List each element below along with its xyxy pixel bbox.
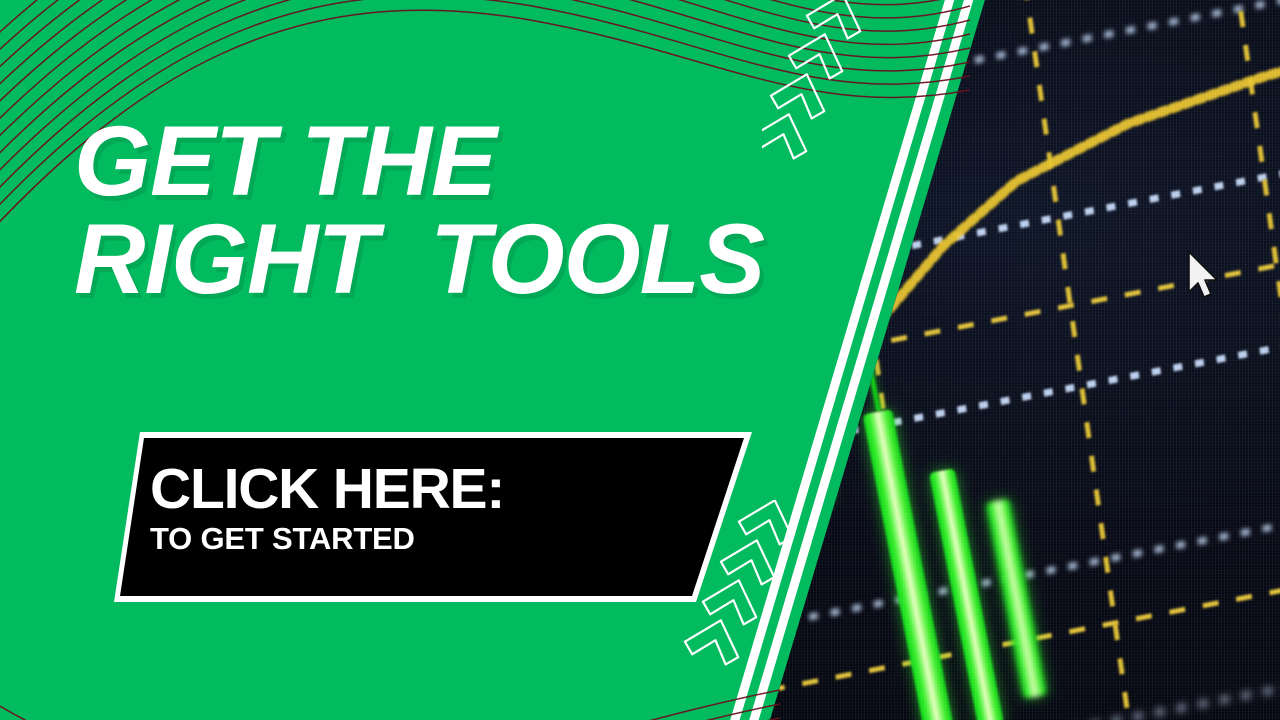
click-here-cta-button[interactable]: CLICK HERE: TO GET STARTED <box>96 428 760 606</box>
mouse-pointer-icon <box>1185 250 1225 302</box>
chevron-icon <box>804 0 861 47</box>
headline-line-2: RIGHT TOOLS <box>74 210 904 308</box>
cta-text-block: CLICK HERE: TO GET STARTED <box>150 460 504 555</box>
headline: GET THE RIGHT TOOLS <box>74 112 904 308</box>
chevron-icon <box>682 618 739 672</box>
cta-subtitle: TO GET STARTED <box>150 522 504 555</box>
promo-banner: GET THE RIGHT TOOLS CLICK HERE: TO GET S… <box>0 0 1280 720</box>
chevron-icon <box>786 32 843 86</box>
cta-title: CLICK HERE: <box>150 460 504 518</box>
headline-line-1: GET THE <box>74 112 904 210</box>
